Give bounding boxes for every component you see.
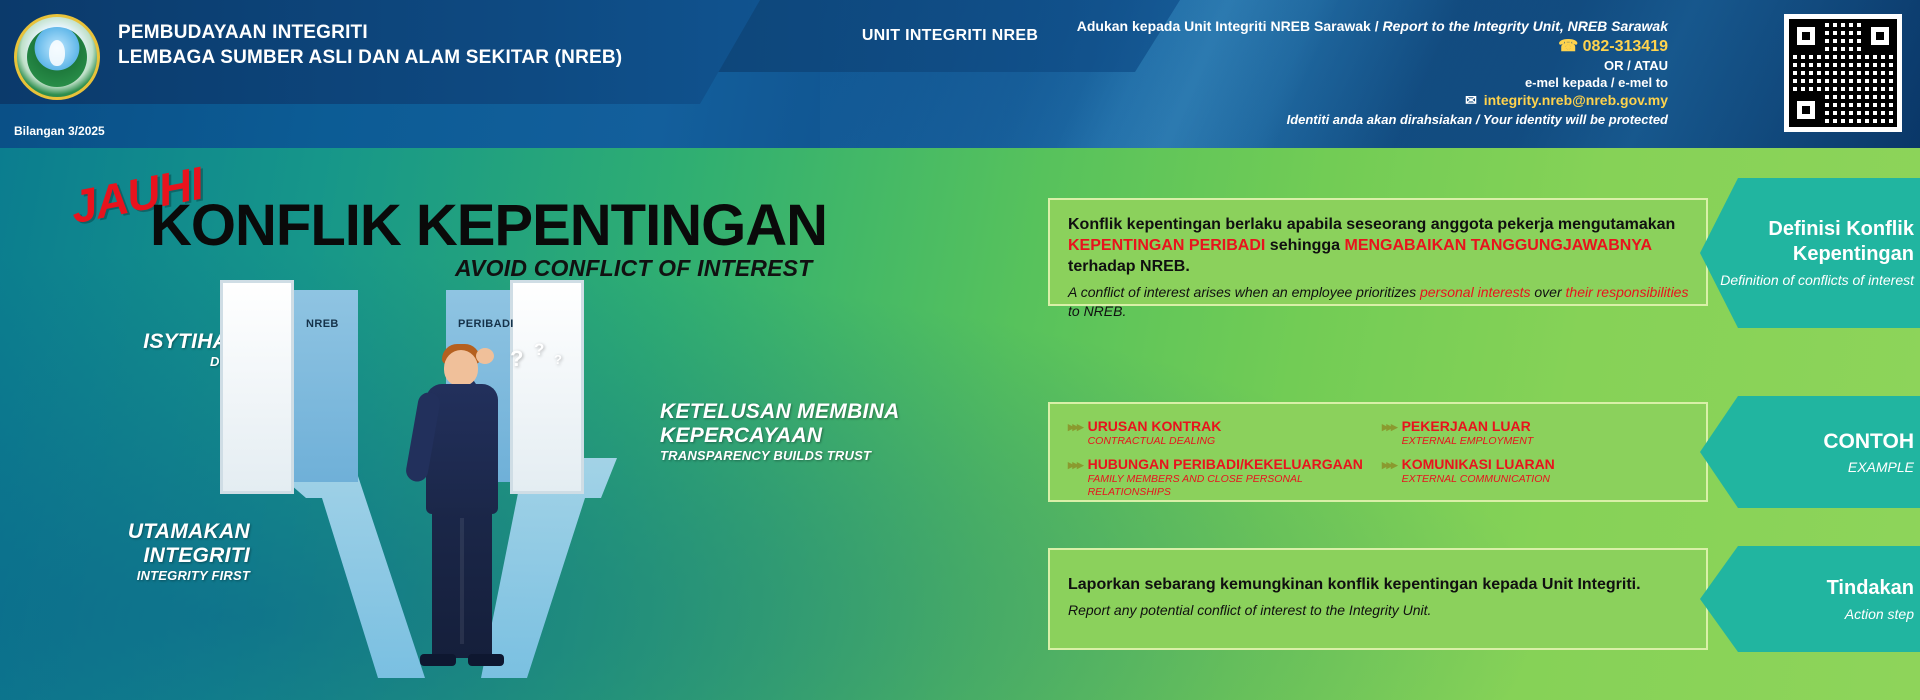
person-legs xyxy=(432,508,492,658)
qr-eye-bottom-left xyxy=(1791,95,1821,125)
report-en: Report to the Integrity Unit, NREB Saraw… xyxy=(1383,18,1668,34)
example-item: ▸▸▸ URUSAN KONTRAK CONTRACTUAL DEALING xyxy=(1068,418,1382,448)
definition-en-highlight2: their responsibilities xyxy=(1566,284,1689,300)
definition-ms-highlight1: KEPENTINGAN PERIBADI xyxy=(1068,237,1265,254)
question-mark-icon-3: ? xyxy=(554,352,562,367)
label-integrity-ms: UTAMAKAN INTEGRITI xyxy=(35,520,250,568)
tag-definition-ms: Definisi Konflik Kepentingan xyxy=(1700,217,1914,267)
poster-header: PEMBUDAYAAN INTEGRITI LEMBAGA SUMBER ASL… xyxy=(0,0,1920,148)
definition-text-ms: Konflik kepentingan berlaku apabila sese… xyxy=(1068,214,1690,277)
tag-definition: Definisi Konflik Kepentingan Definition … xyxy=(1700,178,1920,328)
example-item: ▸▸▸ HUBUNGAN PERIBADI/KEKELUARGAAN FAMIL… xyxy=(1068,456,1382,499)
envelope-icon: ✉ xyxy=(1465,92,1477,108)
example-en: FAMILY MEMBERS AND CLOSE PERSONAL RELATI… xyxy=(1088,473,1382,499)
example-ms: PEKERJAAN LUAR xyxy=(1402,418,1534,435)
definition-text-en: A conflict of interest arises when an em… xyxy=(1068,283,1690,321)
example-text: URUSAN KONTRAK CONTRACTUAL DEALING xyxy=(1088,418,1222,448)
example-ms: HUBUNGAN PERIBADI/KEKELUARGAAN xyxy=(1088,456,1382,473)
example-item: ▸▸▸ KOMUNIKASI LUARAN EXTERNAL COMMUNICA… xyxy=(1382,456,1696,499)
action-text-ms: Laporkan sebarang kemungkinan konflik ke… xyxy=(1068,574,1690,595)
chevrons-icon: ▸▸▸ xyxy=(1382,421,1396,433)
tag-definition-en: Definition of conflicts of interest xyxy=(1720,271,1914,289)
phone-icon: ☎ xyxy=(1558,38,1578,55)
definition-ms-part3: terhadap NREB. xyxy=(1068,258,1190,275)
door-right-tag: PERIBADI xyxy=(458,318,514,330)
or-label: OR / ATAU xyxy=(1068,57,1668,74)
org-line-2: LEMBAGA SUMBER ASLI DAN ALAM SEKITAR (NR… xyxy=(118,47,622,69)
identity-protection-note: Identiti anda akan dirahsiakan / Your id… xyxy=(1068,111,1668,129)
hero-subtitle: AVOID CONFLICT OF INTEREST xyxy=(455,255,812,282)
illustration-two-doors: NREB PERIBADI ? ? ? xyxy=(220,280,700,680)
org-line-1: PEMBUDAYAAN INTEGRITI xyxy=(118,22,368,44)
definition-en-part1: A conflict of interest arises when an em… xyxy=(1068,284,1420,300)
panel-action-content: Laporkan sebarang kemungkinan konflik ke… xyxy=(1050,550,1706,620)
person-shoe-right xyxy=(468,654,504,666)
person-figure: ? ? ? xyxy=(402,340,522,660)
example-ms: KOMUNIKASI LUARAN xyxy=(1402,456,1555,473)
label-integrity-first: UTAMAKAN INTEGRITI INTEGRITY FIRST xyxy=(35,520,250,583)
example-item: ▸▸▸ PEKERJAAN LUAR EXTERNAL EMPLOYMENT xyxy=(1382,418,1696,448)
example-en: EXTERNAL COMMUNICATION xyxy=(1402,473,1555,486)
definition-ms-highlight2: MENGABAIKAN TANGGUNGJAWABNYA xyxy=(1344,237,1651,254)
panel-definition-content: Konflik kepentingan berlaku apabila sese… xyxy=(1050,200,1706,321)
report-contact-block: Adukan kepada Unit Integriti NREB Sarawa… xyxy=(1068,18,1668,129)
definition-en-highlight1: personal interests xyxy=(1420,284,1531,300)
hero-title: KONFLIK KEPENTINGAN xyxy=(150,192,827,259)
question-mark-icon-1: ? xyxy=(510,346,523,372)
report-ms: Adukan kepada Unit Integriti NREB Sarawa… xyxy=(1077,18,1379,34)
action-text-en: Report any potential conflict of interes… xyxy=(1068,601,1690,620)
phone-line: ☎ 082-313419 xyxy=(1068,36,1668,57)
tag-examples-ms: CONTOH xyxy=(1823,429,1914,454)
nreb-logo-emblem xyxy=(27,27,87,87)
tag-action-en: Action step xyxy=(1845,605,1914,623)
tag-action: Tindakan Action step xyxy=(1700,546,1920,652)
example-ms: URUSAN KONTRAK xyxy=(1088,418,1222,435)
door-left-tag: NREB xyxy=(306,318,339,330)
example-en: EXTERNAL EMPLOYMENT xyxy=(1402,435,1534,448)
definition-ms-part2: sehingga xyxy=(1265,237,1344,254)
email-address[interactable]: integrity.nreb@nreb.gov.my xyxy=(1484,92,1668,108)
email-line: ✉ integrity.nreb@nreb.gov.my xyxy=(1068,91,1668,110)
issue-number: Bilangan 3/2025 xyxy=(14,124,105,138)
examples-grid: ▸▸▸ URUSAN KONTRAK CONTRACTUAL DEALING ▸… xyxy=(1050,404,1706,499)
label-integrity-en: INTEGRITY FIRST xyxy=(35,568,250,583)
door-left-panel xyxy=(220,280,294,494)
example-text: KOMUNIKASI LUARAN EXTERNAL COMMUNICATION xyxy=(1402,456,1555,486)
panel-examples: ▸▸▸ URUSAN KONTRAK CONTRACTUAL DEALING ▸… xyxy=(1048,402,1708,502)
email-label: e-mel kepada / e-mel to xyxy=(1068,74,1668,91)
definition-en-part3: to NREB. xyxy=(1068,303,1126,319)
qr-code-icon[interactable] xyxy=(1784,14,1902,132)
tag-action-ms: Tindakan xyxy=(1827,576,1914,601)
qr-eye-top-left xyxy=(1791,21,1821,51)
chevrons-icon: ▸▸▸ xyxy=(1382,459,1396,471)
unit-title: UNIT INTEGRITI NREB xyxy=(790,27,1110,45)
report-line: Adukan kepada Unit Integriti NREB Sarawa… xyxy=(1068,18,1668,35)
person-hand xyxy=(476,348,494,364)
phone-number: 082-313419 xyxy=(1583,38,1668,55)
qr-eye-top-right xyxy=(1865,21,1895,51)
tag-examples: CONTOH EXAMPLE xyxy=(1700,396,1920,508)
panel-definition: Konflik kepentingan berlaku apabila sese… xyxy=(1048,198,1708,306)
example-text: HUBUNGAN PERIBADI/KEKELUARGAAN FAMILY ME… xyxy=(1088,456,1382,499)
definition-en-part2: over xyxy=(1531,284,1566,300)
panel-action: Laporkan sebarang kemungkinan konflik ke… xyxy=(1048,548,1708,650)
tag-examples-en: EXAMPLE xyxy=(1848,458,1914,476)
chevrons-icon: ▸▸▸ xyxy=(1068,459,1082,471)
qr-code-pattern xyxy=(1789,19,1897,127)
poster-canvas: PEMBUDAYAAN INTEGRITI LEMBAGA SUMBER ASL… xyxy=(0,0,1920,700)
definition-ms-part1: Konflik kepentingan berlaku apabila sese… xyxy=(1068,216,1675,233)
example-en: CONTRACTUAL DEALING xyxy=(1088,435,1222,448)
example-text: PEKERJAAN LUAR EXTERNAL EMPLOYMENT xyxy=(1402,418,1534,448)
person-shoe-left xyxy=(420,654,456,666)
chevrons-icon: ▸▸▸ xyxy=(1068,421,1082,433)
question-mark-icon-2: ? xyxy=(534,340,544,360)
nreb-logo-icon xyxy=(14,14,100,100)
person-head xyxy=(444,350,478,386)
